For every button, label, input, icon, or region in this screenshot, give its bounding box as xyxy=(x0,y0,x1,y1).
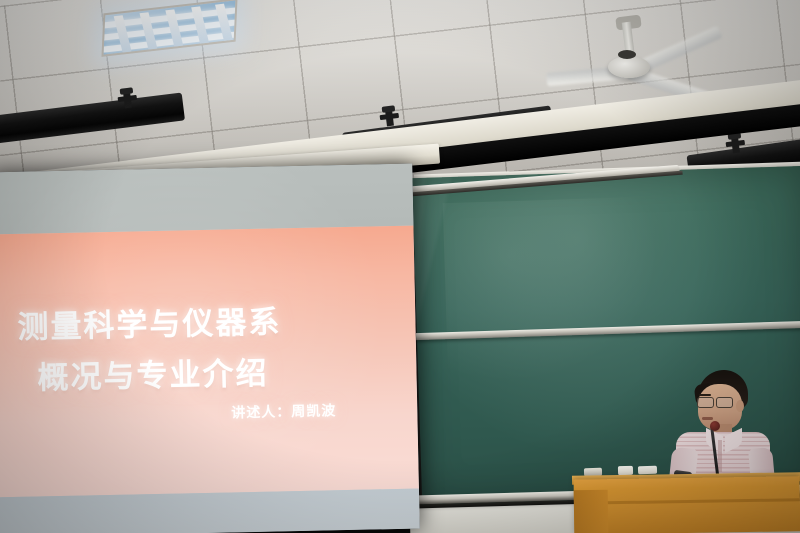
speaker-ear xyxy=(736,400,744,412)
presentation-slide: 测量科学与仪器系 概况与专业介绍 讲述人：周凯波 xyxy=(0,164,420,533)
chalk-stick xyxy=(638,466,657,475)
slide-title-line-2: 概况与专业介绍 xyxy=(37,348,269,398)
slide-presenter-label: 讲述人：周凯波 xyxy=(231,400,336,422)
speaker-mouth xyxy=(702,417,713,420)
speaker-eyebrow xyxy=(699,394,711,396)
ceiling-fan-hub xyxy=(608,56,650,78)
slide-title-line-1: 测量科学与仪器系 xyxy=(17,296,282,347)
slide-text-group: 测量科学与仪器系 概况与专业介绍 讲述人：周凯波 xyxy=(0,164,420,533)
chalk-stick xyxy=(618,466,633,475)
shirt-placket xyxy=(718,440,722,472)
podium-side-panel xyxy=(574,490,609,533)
lecture-hall-scene: Projecta 测量科学与仪器系 概况与专业介绍 讲述人：周凯波 xyxy=(0,0,800,533)
microphone-icon xyxy=(710,421,720,431)
glasses-icon xyxy=(697,397,737,406)
chalkboard-smudge xyxy=(443,197,664,385)
projection-screen: 测量科学与仪器系 概况与专业介绍 讲述人：周凯波 xyxy=(0,164,420,533)
